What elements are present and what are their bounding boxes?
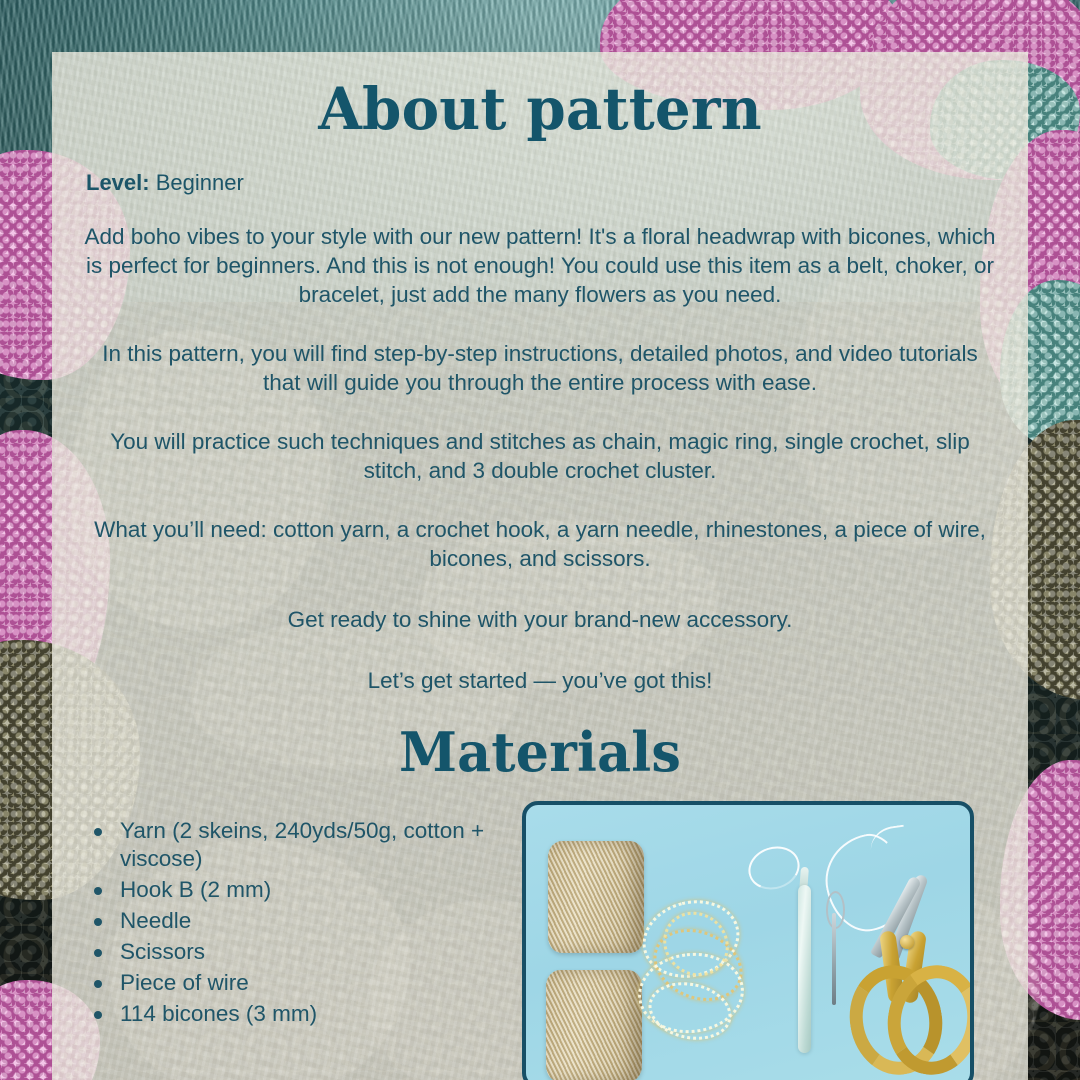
list-item-label: 114 bicones (3 mm) [120,1001,317,1026]
wire-tail-icon [868,825,908,862]
about-paragraph-1: Add boho vibes to your style with our ne… [82,222,998,309]
list-item-label: Yarn (2 skeins, 240yds/50g, cotton + vis… [120,818,484,871]
page-title: About pattern [67,80,1014,138]
list-item: Piece of wire [86,969,516,997]
wire-ring-icon [743,840,805,896]
list-item-label: Needle [120,908,191,933]
list-item: Scissors [86,938,516,966]
about-paragraph-6: Let’s get started — you’ve got this! [82,666,998,695]
level-value: Beginner [156,170,244,195]
materials-title: Materials [67,725,1014,779]
yarn-ball-icon [546,970,642,1080]
list-item: Yarn (2 skeins, 240yds/50g, cotton + vis… [86,817,516,873]
scissors-icon [844,873,968,1080]
about-paragraph-2: In this pattern, you will find step-by-s… [82,339,998,397]
list-item-label: Hook B (2 mm) [120,877,271,902]
yarn-needle-icon [832,913,836,1005]
list-item: Needle [86,907,516,935]
level-line: Level: Beginner [86,170,1028,196]
list-item: Hook B (2 mm) [86,876,516,904]
list-item: 114 bicones (3 mm) [86,1000,516,1028]
bicone-chain-icon [636,891,758,1041]
materials-section: Yarn (2 skeins, 240yds/50g, cotton + vis… [52,801,1028,1080]
materials-list: Yarn (2 skeins, 240yds/50g, cotton + vis… [52,817,516,1030]
list-item-label: Piece of wire [120,970,249,995]
about-paragraph-4: What you’ll need: cotton yarn, a crochet… [82,515,998,573]
content-panel: About pattern Level: Beginner Add boho v… [52,52,1028,1080]
level-label: Level: [86,170,150,195]
about-paragraph-5: Get ready to shine with your brand-new a… [82,605,998,634]
materials-photo [522,801,974,1080]
crochet-hook-icon [798,885,811,1053]
list-item-label: Scissors [120,939,205,964]
about-paragraph-3: You will practice such techniques and st… [82,427,998,485]
yarn-ball-icon [548,841,644,953]
